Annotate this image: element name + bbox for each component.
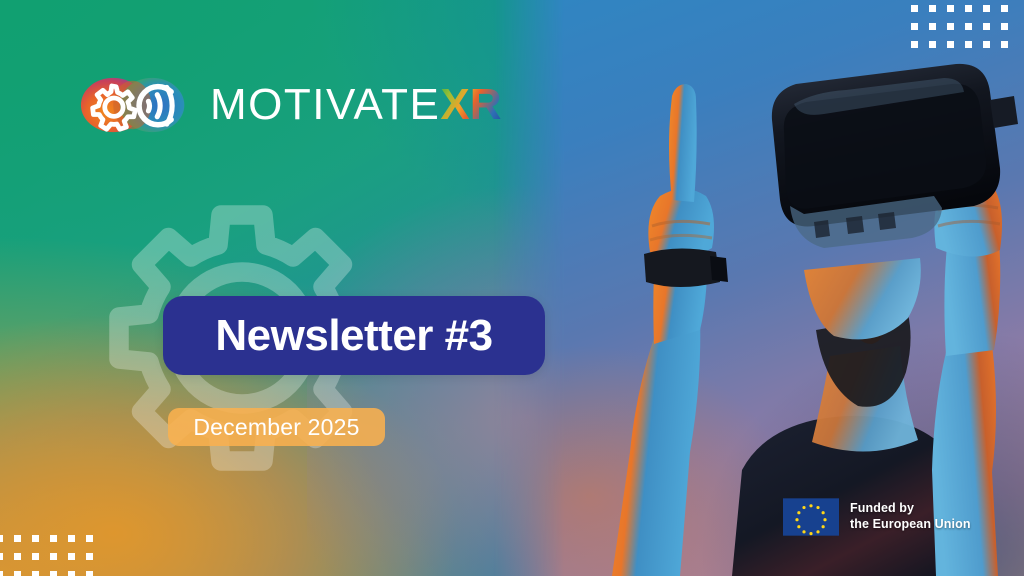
brand-word-primary: MOTIVATE [210, 83, 440, 127]
brand-word-accent: XR [440, 83, 501, 127]
eu-funding-line-2: the European Union [850, 517, 971, 533]
newsletter-banner: MOTIVATE XR Newsletter #3 December 2025 [0, 0, 1024, 576]
motivatexr-infinity-gear-wifi-logo-icon [78, 68, 188, 142]
eu-funding-text: Funded by the European Union [850, 501, 971, 532]
brand-logo[interactable]: MOTIVATE XR [78, 68, 502, 142]
issue-date-label: December 2025 [193, 416, 359, 439]
vr-headset-user-photo [494, 0, 1024, 576]
eu-funding-logo: Funded by the European Union [783, 498, 971, 536]
issue-date-badge: December 2025 [168, 408, 385, 446]
dot-grid-icon [911, 5, 1008, 48]
dot-grid-icon [0, 535, 93, 576]
newsletter-title-badge: Newsletter #3 [163, 296, 545, 375]
brand-wordmark: MOTIVATE XR [210, 83, 502, 127]
vr-user-figure [494, 0, 1024, 576]
page-title: Newsletter #3 [215, 314, 492, 358]
eu-funding-line-1: Funded by [850, 501, 971, 517]
european-union-flag-icon [783, 498, 839, 536]
